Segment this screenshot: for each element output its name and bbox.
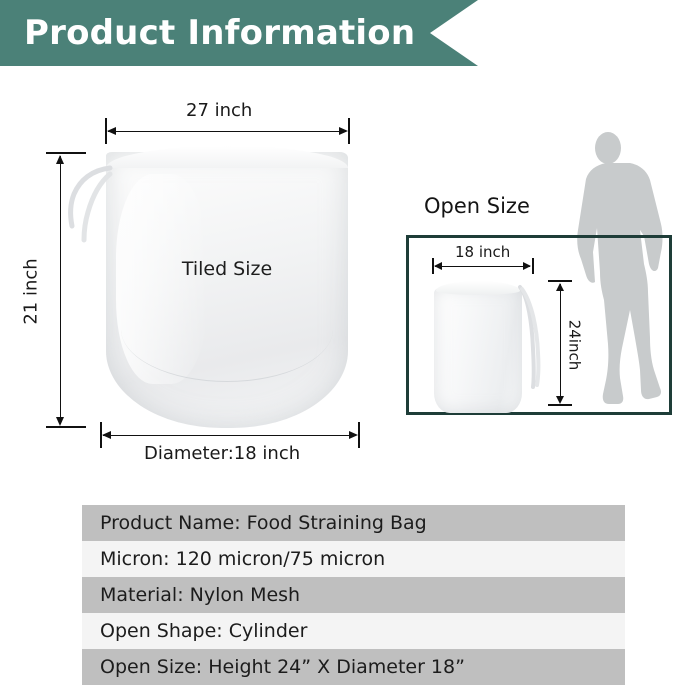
open-height-arrow-top — [556, 283, 564, 291]
open-bag-image — [434, 279, 522, 413]
open-height-line — [560, 284, 561, 402]
product-spec-table: Product Name: Food Straining Bag Micron:… — [82, 505, 625, 685]
open-height-tick-bottom — [548, 404, 572, 406]
tiled-height-label: 21 inch — [21, 258, 42, 324]
open-width-arrow-right — [523, 262, 531, 270]
table-row: Material: Nylon Mesh — [82, 577, 625, 613]
tiled-width-arrow-left — [107, 127, 116, 135]
page-title: Product Information — [0, 16, 415, 50]
table-row: Micron: 120 micron/75 micron — [82, 541, 625, 577]
open-width-arrow-left — [434, 262, 442, 270]
tiled-diameter-label: Diameter:18 inch — [144, 443, 300, 464]
tiled-width-line — [108, 131, 346, 132]
table-row: Product Name: Food Straining Bag — [82, 505, 625, 541]
tiled-width-arrow-right — [339, 127, 348, 135]
open-bag-body — [434, 287, 522, 413]
spec-row-text: Product Name: Food Straining Bag — [100, 512, 427, 534]
open-height-arrow-bottom — [556, 396, 564, 404]
spec-row-text: Open Shape: Cylinder — [100, 620, 307, 642]
spec-row-text: Open Size: Height 24” X Diameter 18” — [100, 656, 465, 678]
tiled-height-arrow-bottom — [56, 417, 64, 426]
tiled-diameter-tick-right — [358, 422, 360, 448]
tiled-diameter-arrow-left — [102, 431, 111, 439]
tiled-size-caption: Tiled Size — [106, 258, 348, 280]
tiled-bag-drawstring-icon — [58, 160, 128, 260]
tiled-diameter-line — [103, 435, 356, 436]
table-row: Open Shape: Cylinder — [82, 613, 625, 649]
open-size-heading: Open Size — [424, 194, 530, 218]
open-width-label: 18 inch — [455, 243, 510, 261]
tiled-diameter-arrow-right — [349, 431, 358, 439]
tiled-height-tick-bottom — [46, 426, 86, 428]
open-bag-gathered-neck — [436, 281, 520, 295]
spec-row-text: Material: Nylon Mesh — [100, 584, 300, 606]
open-width-line — [435, 266, 530, 267]
open-height-tick-top — [548, 280, 572, 282]
tiled-bag-top-edge — [106, 146, 348, 168]
open-width-tick-right — [532, 258, 534, 274]
open-height-label: 24inch — [565, 320, 583, 371]
spec-row-text: Micron: 120 micron/75 micron — [100, 548, 385, 570]
tiled-width-tick-right — [348, 118, 350, 144]
header-banner: Product Information — [0, 0, 478, 66]
tiled-height-tick-top — [46, 152, 86, 154]
open-bag-drawstring-icon — [516, 283, 546, 393]
tiled-width-label: 27 inch — [186, 100, 252, 121]
tiled-bag-image: Tiled Size — [106, 152, 348, 428]
table-row: Open Size: Height 24” X Diameter 18” — [82, 649, 625, 685]
